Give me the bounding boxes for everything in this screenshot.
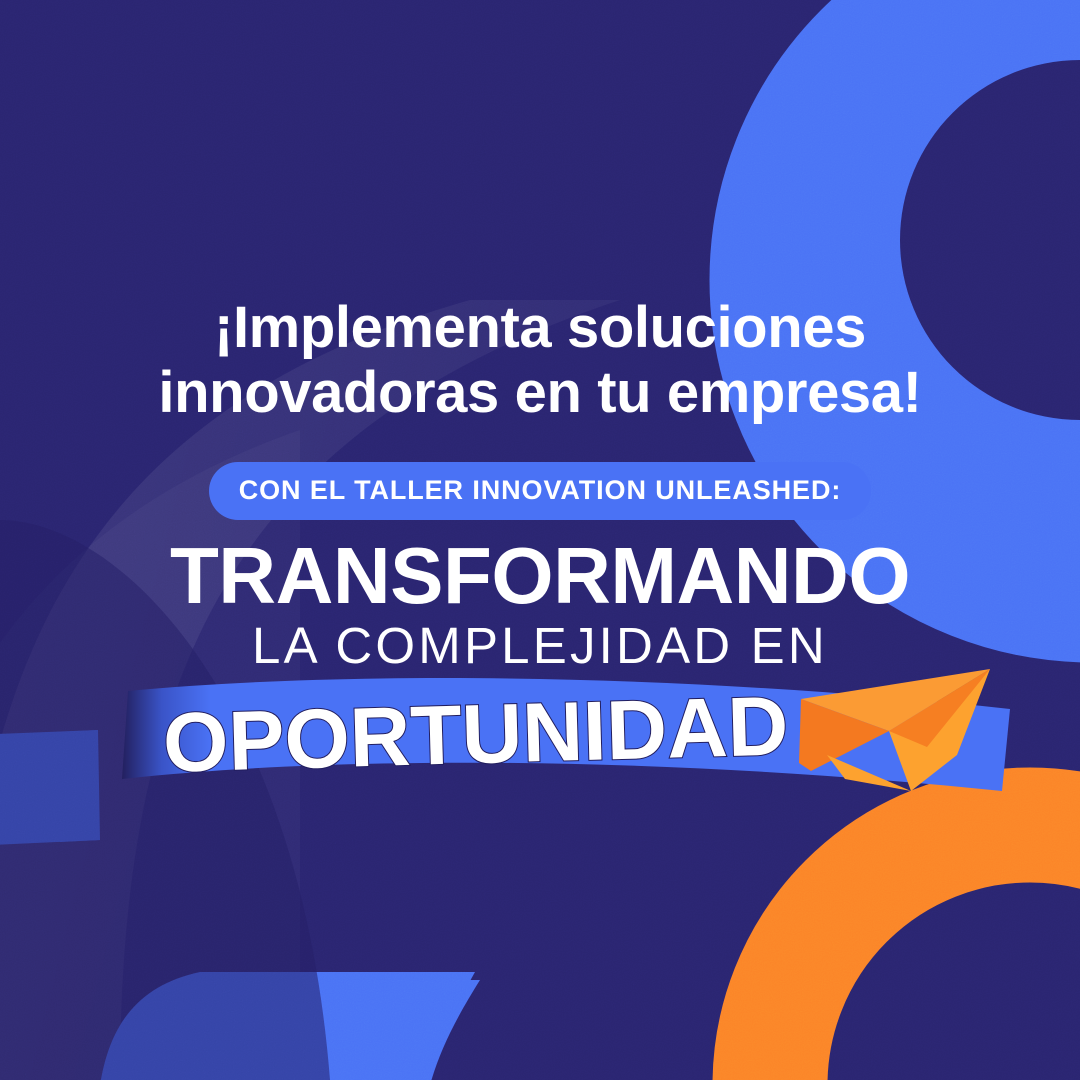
title-highlight-oportunidad: OPORTUNIDAD (162, 683, 789, 784)
headline: ¡Implementa soluciones innovadoras en tu… (0, 296, 1080, 426)
highlight-ribbon-block: OPORTUNIDAD (0, 663, 1080, 813)
badge-container: CON EL TALLER INNOVATION UNLEASHED: (0, 462, 1080, 520)
workshop-badge: CON EL TALLER INNOVATION UNLEASHED: (209, 462, 872, 520)
title-line-transformando: TRANSFORMANDO (0, 536, 1080, 616)
paper-plane-icon (785, 651, 1015, 801)
poster-canvas: ¡Implementa soluciones innovadoras en tu… (0, 0, 1080, 1080)
headline-line-2: innovadoras en tu empresa! (110, 361, 970, 426)
headline-line-1: ¡Implementa soluciones (110, 296, 970, 361)
poster-content: ¡Implementa soluciones innovadoras en tu… (0, 296, 1080, 671)
